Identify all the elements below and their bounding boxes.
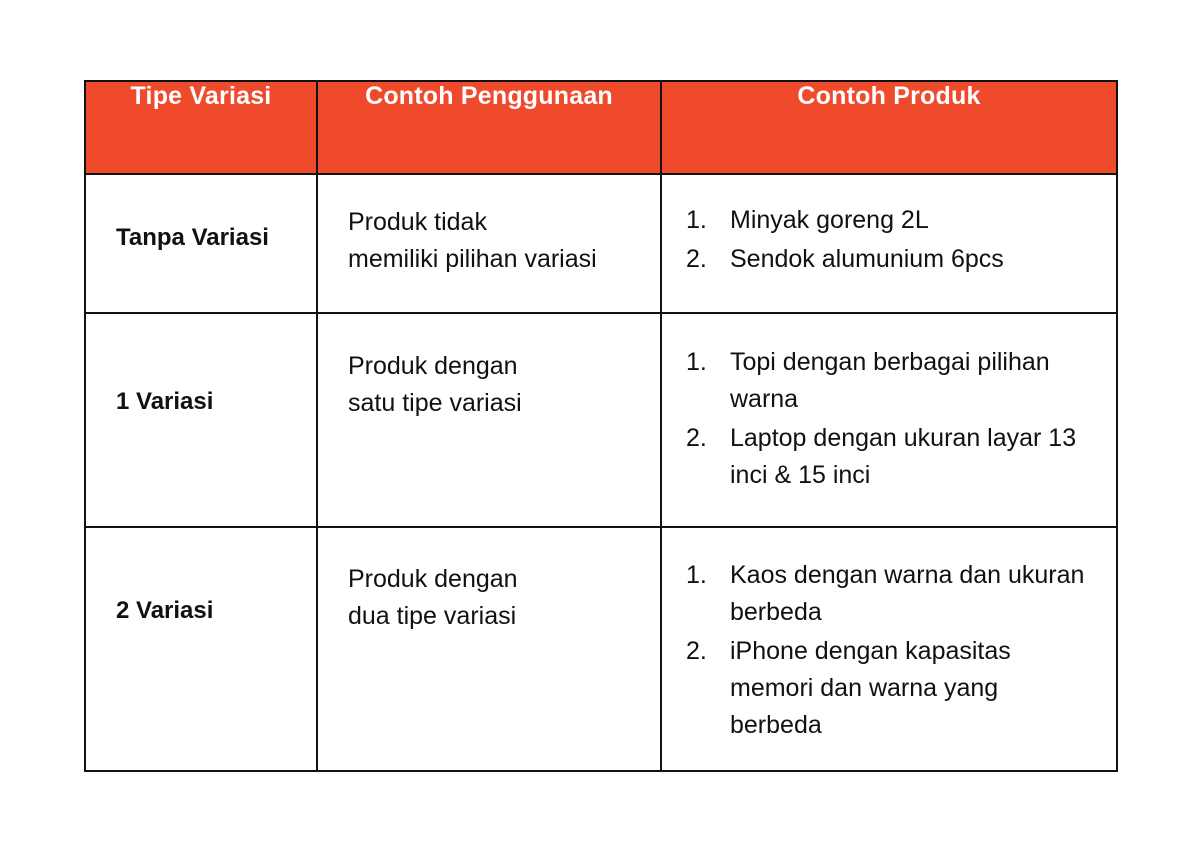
product-variation-table: Tipe Variasi Contoh Penggunaan Contoh Pr… xyxy=(84,80,1118,772)
list-item-text: Sendok alumunium 6pcs xyxy=(730,241,1096,278)
list-item: 1. Minyak goreng 2L xyxy=(686,202,1096,239)
page-canvas: Tipe Variasi Contoh Penggunaan Contoh Pr… xyxy=(0,0,1200,852)
list-marker: 1. xyxy=(686,344,730,381)
usage-line: Produk dengan xyxy=(348,561,660,598)
list-item: 2. Sendok alumunium 6pcs xyxy=(686,241,1096,278)
product-examples: 1. Minyak goreng 2L 2. Sendok alumunium … xyxy=(661,174,1117,313)
column-header-tipe-variasi: Tipe Variasi xyxy=(85,81,317,174)
product-examples: 1. Kaos dengan warna dan ukuran berbeda … xyxy=(661,527,1117,771)
table-body: Tanpa Variasi Produk tidak memiliki pili… xyxy=(85,174,1117,771)
usage-description: Produk tidak memiliki pilihan variasi xyxy=(317,174,661,313)
column-header-contoh-penggunaan: Contoh Penggunaan xyxy=(317,81,661,174)
list-marker: 2. xyxy=(686,241,730,278)
list-item-text: iPhone dengan kapasitas memori dan warna… xyxy=(730,633,1096,744)
list-marker: 1. xyxy=(686,557,730,594)
product-example-list: 1. Topi dengan berbagai pilihan warna 2.… xyxy=(686,344,1096,494)
usage-line: memiliki pilihan variasi xyxy=(348,241,660,278)
usage-description: Produk dengan satu tipe variasi xyxy=(317,313,661,527)
variation-type-label: 1 Variasi xyxy=(85,313,317,527)
list-item: 1. Topi dengan berbagai pilihan warna xyxy=(686,344,1096,418)
list-item: 2. iPhone dengan kapasitas memori dan wa… xyxy=(686,633,1096,744)
variation-type-label: 2 Variasi xyxy=(85,527,317,771)
product-examples: 1. Topi dengan berbagai pilihan warna 2.… xyxy=(661,313,1117,527)
list-item-text: Minyak goreng 2L xyxy=(730,202,1096,239)
usage-line: dua tipe variasi xyxy=(348,598,660,635)
variation-type-label: Tanpa Variasi xyxy=(85,174,317,313)
usage-line: satu tipe variasi xyxy=(348,385,660,422)
usage-line: Produk tidak xyxy=(348,204,660,241)
column-header-contoh-produk: Contoh Produk xyxy=(661,81,1117,174)
table-row: 1 Variasi Produk dengan satu tipe varias… xyxy=(85,313,1117,527)
list-item-text: Kaos dengan warna dan ukuran berbeda xyxy=(730,557,1096,631)
product-example-list: 1. Minyak goreng 2L 2. Sendok alumunium … xyxy=(686,202,1096,278)
table-row: Tanpa Variasi Produk tidak memiliki pili… xyxy=(85,174,1117,313)
table-header-row: Tipe Variasi Contoh Penggunaan Contoh Pr… xyxy=(85,81,1117,174)
list-item-text: Laptop dengan ukuran layar 13 inci & 15 … xyxy=(730,420,1096,494)
usage-description: Produk dengan dua tipe variasi xyxy=(317,527,661,771)
list-item-text: Topi dengan berbagai pilihan warna xyxy=(730,344,1096,418)
list-marker: 2. xyxy=(686,633,730,670)
product-example-list: 1. Kaos dengan warna dan ukuran berbeda … xyxy=(686,557,1096,744)
list-item: 2. Laptop dengan ukuran layar 13 inci & … xyxy=(686,420,1096,494)
usage-line: Produk dengan xyxy=(348,348,660,385)
list-item: 1. Kaos dengan warna dan ukuran berbeda xyxy=(686,557,1096,631)
list-marker: 1. xyxy=(686,202,730,239)
table-row: 2 Variasi Produk dengan dua tipe variasi… xyxy=(85,527,1117,771)
table-header: Tipe Variasi Contoh Penggunaan Contoh Pr… xyxy=(85,81,1117,174)
list-marker: 2. xyxy=(686,420,730,457)
